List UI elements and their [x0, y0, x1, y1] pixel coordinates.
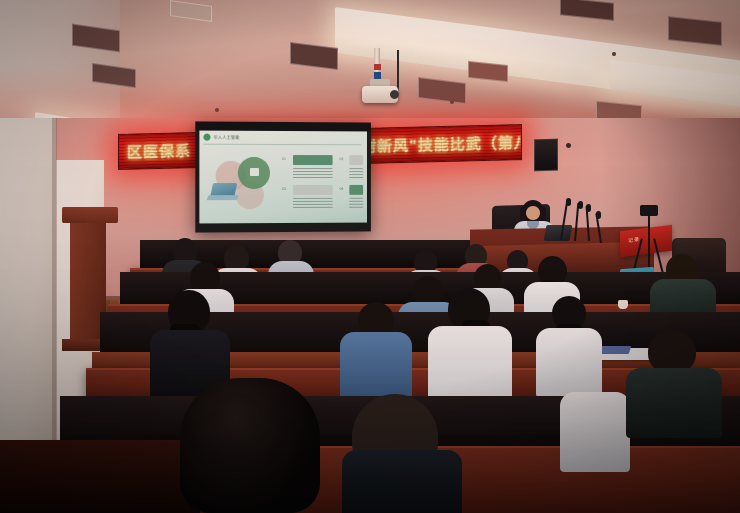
led-banner-left-text: 区医保系 — [127, 140, 191, 163]
projector-lens-icon — [390, 90, 399, 99]
microphone-head — [578, 201, 583, 209]
slide-block-number: 03 — [282, 187, 286, 191]
audience-member — [560, 392, 630, 472]
microphone-head — [586, 204, 591, 212]
conference-room-photo: 区医保系 务树新风"技能比武（第八期） 引入人工智能 01 02 — [0, 0, 740, 513]
slide-block-number: 02 — [340, 157, 344, 161]
slide-divider — [203, 144, 361, 146]
audience-member-foreground — [342, 394, 462, 513]
slide-block-body — [293, 168, 333, 180]
projection-screen-frame: 引入人工智能 01 02 03 04 — [195, 121, 371, 232]
podium-laptop — [544, 225, 573, 241]
slide-monitor-icon — [250, 168, 259, 176]
microphone-head — [596, 211, 601, 219]
slide-laptop-base-icon — [206, 195, 238, 200]
audience-member — [626, 330, 722, 430]
microphone-head — [566, 198, 571, 206]
person-torso — [560, 392, 630, 472]
audience-member — [536, 296, 602, 394]
slide-block-heading — [349, 185, 363, 195]
ceiling-sensor-dot — [450, 100, 454, 104]
slide-block-number: 01 — [282, 157, 286, 161]
presenter-face — [526, 206, 540, 220]
ceiling-sensor-dot — [612, 52, 616, 56]
slide-title: 引入人工智能 — [214, 134, 240, 140]
audience-member — [650, 254, 716, 320]
person-torso — [626, 368, 722, 438]
person-torso — [536, 328, 602, 398]
audience-member-foreground — [150, 378, 340, 513]
projection-screen[interactable]: 引入人工智能 01 02 03 04 — [199, 131, 367, 224]
person-torso — [342, 450, 462, 513]
wall-fixture-dot — [566, 143, 571, 148]
ceiling-sensor-dot — [215, 108, 219, 112]
wall-speaker — [534, 139, 558, 172]
slide-block-heading — [349, 155, 363, 165]
lectern-top — [62, 207, 118, 223]
slide-header: 引入人工智能 — [203, 134, 239, 141]
led-banner-right-text: 务树新风"技能比武（第八期） — [345, 131, 522, 157]
slide-block-heading — [293, 185, 333, 195]
audience-member — [428, 288, 512, 404]
slide-bullet-icon — [203, 134, 210, 141]
person-head — [180, 378, 320, 513]
slide-block-body — [349, 198, 363, 210]
slide-block-body — [293, 198, 333, 210]
audience-member — [340, 302, 412, 404]
slide-block-body — [349, 168, 363, 180]
slide-block-number: 04 — [340, 187, 344, 191]
projector-clip — [374, 64, 381, 70]
paper-cup — [618, 300, 628, 309]
slide-block-heading — [293, 155, 333, 165]
